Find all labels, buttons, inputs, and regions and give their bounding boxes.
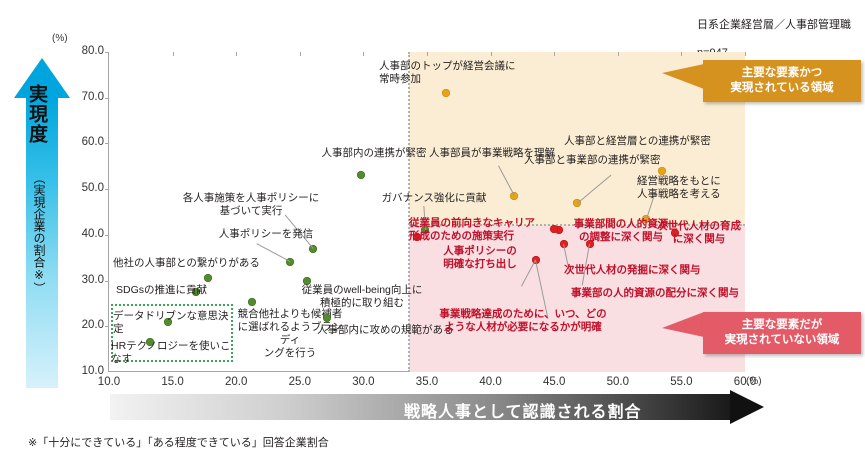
x-tick-40: 40.0 <box>469 376 513 388</box>
data-point-label: HRテクノロジーを使いこなす <box>111 340 237 366</box>
data-point-label: 人事部内の連携が緊密 <box>299 147 449 160</box>
x-tick-15: 15.0 <box>151 376 195 388</box>
y-axis-title: 実現度 <box>20 84 50 144</box>
data-point[interactable] <box>658 167 666 175</box>
data-point[interactable] <box>204 274 212 282</box>
callout-achieved: 主要な要素かつ 実現されている領域 <box>703 60 861 102</box>
x-tick-35: 35.0 <box>405 376 449 388</box>
data-point-label: 人事ポリシーの 明確な打ち出し <box>421 245 539 271</box>
x-tick-45: 45.0 <box>532 376 576 388</box>
x-tick-10: 10.0 <box>87 376 131 388</box>
y-tick-30: 30.0 <box>64 274 104 286</box>
data-point[interactable] <box>357 171 365 179</box>
data-point-label: 人事ポリシーを発信 <box>201 228 331 241</box>
chart-page: 日系企業経営層／人事部管理職 n=947 実現度 （実現企業の割合※） (%) … <box>0 0 865 460</box>
x-axis-unit: (%) <box>746 376 762 387</box>
y-tick-80: 80.0 <box>64 45 104 57</box>
data-point[interactable] <box>442 89 450 97</box>
callout-orange-tail <box>662 64 704 89</box>
data-point-label: 次世代人材の発掘に深く関与 <box>564 264 744 277</box>
data-point-label: 次世代人材の育成 に深く関与 <box>643 220 755 246</box>
data-point-label: 事業戦略達成のために、いつ、どの ような人材が必要になるかが明確 <box>425 308 621 334</box>
data-point-label: 事業部の人的資源の配分に深く関与 <box>571 287 761 300</box>
data-point-label: データドリブンな意思決定 <box>113 310 237 336</box>
data-point-label: 他社の人事部との繋がりがある <box>113 257 278 270</box>
x-tick-55: 55.0 <box>659 376 703 388</box>
x-tick-20: 20.0 <box>214 376 258 388</box>
data-point-label: ガバナンス強化に貢献 <box>359 192 509 205</box>
x-tick-25: 25.0 <box>278 376 322 388</box>
footnote: ※「十分にできている」「ある程度できている」回答企業割合 <box>28 434 329 450</box>
callout-red-tail <box>662 312 704 337</box>
data-point[interactable] <box>550 225 558 233</box>
data-point-label: 従業員のwell-being向上に 積極的に取り組む <box>297 284 427 310</box>
plot-area: 80.0 70.0 60.0 50.0 40.0 30.0 20.0 10.0 … <box>108 52 744 372</box>
y-tick-20: 20.0 <box>64 319 104 331</box>
callout-unachieved: 主要な要素だが 実現されていない領域 <box>703 312 861 354</box>
data-point[interactable] <box>248 298 256 306</box>
data-point-label: SDGsの推進に貢献 <box>107 284 207 297</box>
data-point-label: 人事部と事業部の連携が緊密 <box>524 154 704 167</box>
x-axis-title: 戦略人事として認識される割合 <box>404 398 642 422</box>
y-tick-40: 40.0 <box>64 228 104 240</box>
data-point[interactable] <box>323 314 331 322</box>
x-tick-30: 30.0 <box>341 376 385 388</box>
data-point-label: 経営戦略をもとに 人事戦略を考える <box>637 175 757 201</box>
y-tick-70: 70.0 <box>64 91 104 103</box>
respondent-segment: 日系企業経営層／人事部管理職 <box>697 18 851 32</box>
y-tick-60: 60.0 <box>64 136 104 148</box>
x-arrow-head <box>730 390 764 424</box>
data-point-label: 各人事施策を人事ポリシーに 基づいて実行 <box>171 192 331 218</box>
y-tick-50: 50.0 <box>64 182 104 194</box>
data-point-label: 人事部のトップが経営会議に 常時参加 <box>379 60 569 86</box>
y-axis-unit: (%) <box>52 33 68 44</box>
data-point-label: 従業員の前向きなキャリア 形成のための施策実行 <box>409 217 569 243</box>
y-axis-subtitle: （実現企業の割合※） <box>22 172 48 294</box>
x-tick-50: 50.0 <box>596 376 640 388</box>
